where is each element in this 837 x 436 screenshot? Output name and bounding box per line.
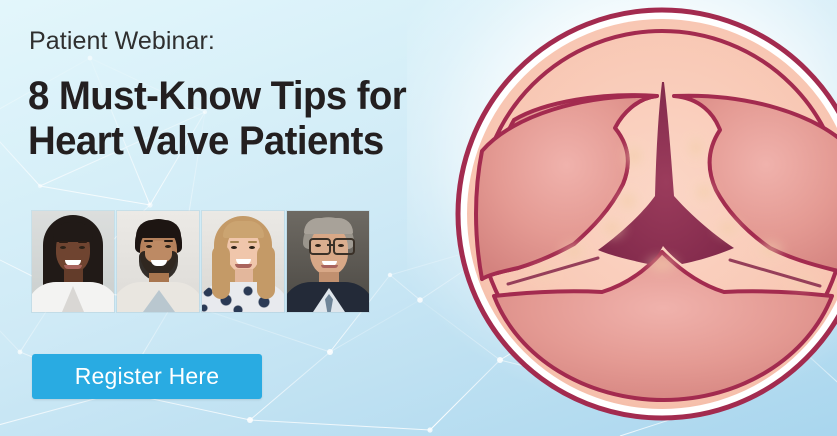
speaker-photo-3 [202, 211, 284, 312]
speaker-photo-2 [117, 211, 199, 312]
speaker-photo-1 [32, 211, 114, 312]
headline-line-2: Heart Valve Patients [28, 119, 460, 164]
speaker-photo-4 [287, 211, 369, 312]
aortic-heart-valve-illustration [452, 0, 837, 436]
webinar-promo-banner: Patient Webinar: 8 Must-Know Tips for He… [0, 0, 837, 436]
headline-line-1: 8 Must-Know Tips for [28, 74, 460, 119]
speaker-photo-strip [32, 211, 369, 312]
register-here-button[interactable]: Register Here [32, 354, 262, 399]
page-title: 8 Must-Know Tips for Heart Valve Patient… [28, 74, 460, 164]
eyebrow-text: Patient Webinar: [29, 27, 215, 56]
